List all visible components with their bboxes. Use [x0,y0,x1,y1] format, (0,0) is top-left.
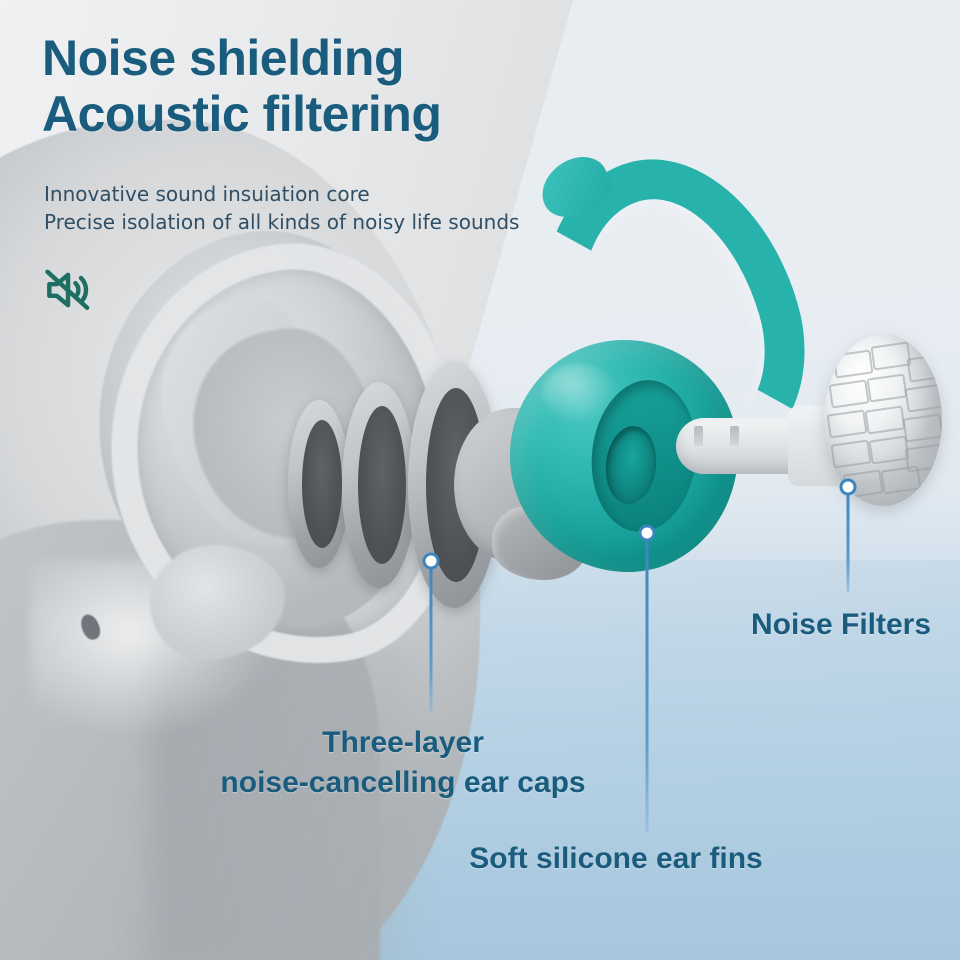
page-subtitle: Innovative sound insuiation core Precise… [44,180,604,237]
ear-cap-flange-1 [288,400,350,568]
honeycomb-noise-filter [676,330,946,540]
callout-label-ear-caps-line-2: noise-cancelling ear caps [220,763,585,803]
callout-line-ear-caps [430,561,433,713]
callout-dot-ear-fins[interactable] [639,525,656,542]
callout-line-ear-fins [646,533,649,833]
filter-stem-notch-1 [694,426,703,446]
callout-label-ear-caps-line-1: Three-layer [220,723,585,763]
subtitle-line-1: Innovative sound insuiation core [44,180,604,208]
fin-highlight [542,364,618,422]
title-line-2: Acoustic filtering [42,86,642,142]
ear-cap-flange-2 [342,382,416,588]
callout-label-noise-filters: Noise Filters [751,608,931,642]
callout-label-ear-fins: Soft silicone ear fins [469,842,762,876]
callout-label-ear-caps: Three-layer noise-cancelling ear caps [220,723,585,803]
callout-line-noise-filters [847,487,850,593]
flange-inner-2 [358,406,406,564]
infographic-canvas: Noise shielding Acoustic filtering Innov… [0,0,960,960]
callout-dot-ear-caps[interactable] [423,553,440,570]
mute-speaker-icon [40,262,96,318]
flange-inner-1 [302,420,342,548]
title-line-1: Noise shielding [42,30,642,86]
subtitle-line-2: Precise isolation of all kinds of noisy … [44,208,604,236]
callout-dot-noise-filters[interactable] [840,479,857,496]
filter-stem-notch-2 [730,426,739,446]
page-title: Noise shielding Acoustic filtering [42,30,642,142]
